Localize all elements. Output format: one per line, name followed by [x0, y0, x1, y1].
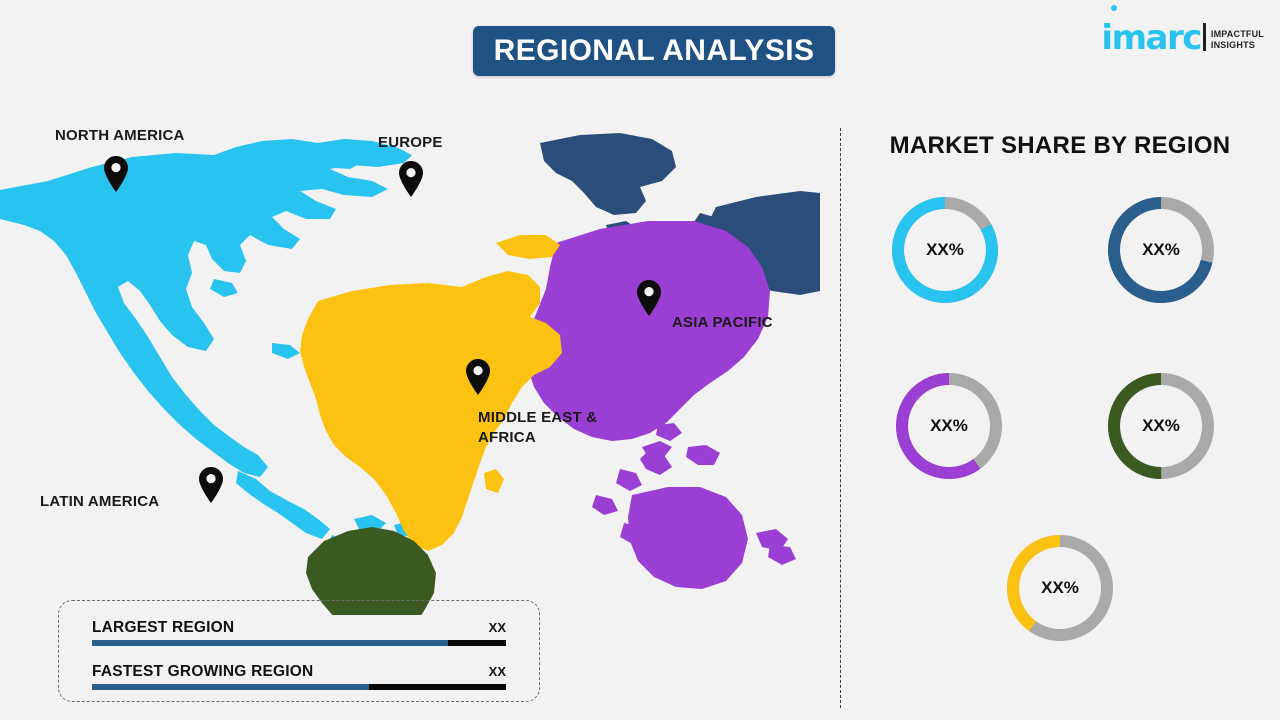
panel-title: MARKET SHARE BY REGION	[840, 132, 1280, 160]
infographic-root: REGIONAL ANALYSIS imarc IMPACTFUL INSIGH…	[0, 0, 1280, 720]
region-label-europe: EUROPE	[378, 133, 443, 153]
map-pin-icon-middle-east-africa[interactable]	[464, 358, 492, 396]
legend-value: XX	[489, 664, 506, 679]
legend-progress-track	[92, 684, 506, 690]
logo-wordmark: imarc	[1101, 22, 1200, 54]
region-label-middle-east-africa: MIDDLE EAST & AFRICA	[478, 408, 648, 448]
legend-row-largest-region: LARGEST REGION XX	[92, 619, 506, 646]
legend-progress-fill	[92, 684, 369, 690]
donut-chart-middle-east-africa: XX%	[1002, 530, 1118, 646]
donut-chart-latin-america: XX%	[1103, 368, 1219, 484]
donut-chart-north-america: XX%	[887, 192, 1003, 308]
donut-value-label: XX%	[1103, 368, 1219, 484]
page-title: REGIONAL ANALYSIS	[494, 34, 815, 68]
logo-tagline-line1: IMPACTFUL	[1211, 29, 1264, 40]
map-pin-icon-asia-pacific[interactable]	[635, 279, 663, 317]
legend-progress-track	[92, 640, 506, 646]
donut-chart-europe: XX%	[1103, 192, 1219, 308]
legend-progress-fill	[92, 640, 448, 646]
donut-value-label: XX%	[887, 192, 1003, 308]
legend-label: LARGEST REGION	[92, 619, 234, 637]
logo-dot-icon	[1111, 5, 1117, 11]
donut-value-label: XX%	[1103, 192, 1219, 308]
logo-tagline: IMPACTFUL INSIGHTS	[1211, 29, 1264, 54]
region-label-north-america: NORTH AMERICA	[55, 126, 185, 146]
legend-row-fastest-growing-region: FASTEST GROWING REGION XX	[92, 663, 506, 690]
imarc-logo: imarc IMPACTFUL INSIGHTS	[1101, 14, 1264, 54]
map-region-africa-middle-east	[300, 235, 562, 551]
region-label-latin-america: LATIN AMERICA	[40, 492, 159, 512]
map-pin-icon-latin-america[interactable]	[197, 466, 225, 504]
region-label-asia-pacific: ASIA PACIFIC	[672, 313, 773, 333]
legend-label: FASTEST GROWING REGION	[92, 663, 313, 681]
logo-tagline-line2: INSIGHTS	[1211, 40, 1264, 51]
page-title-banner: REGIONAL ANALYSIS	[473, 26, 835, 76]
donut-chart-asia-pacific: XX%	[891, 368, 1007, 484]
donut-value-label: XX%	[891, 368, 1007, 484]
logo-divider-bar	[1203, 23, 1206, 51]
summary-legend-box: LARGEST REGION XX FASTEST GROWING REGION…	[58, 600, 540, 702]
map-pin-icon-europe[interactable]	[397, 160, 425, 198]
legend-value: XX	[489, 620, 506, 635]
donut-value-label: XX%	[1002, 530, 1118, 646]
section-divider	[840, 128, 841, 708]
map-pin-icon-north-america[interactable]	[102, 155, 130, 193]
